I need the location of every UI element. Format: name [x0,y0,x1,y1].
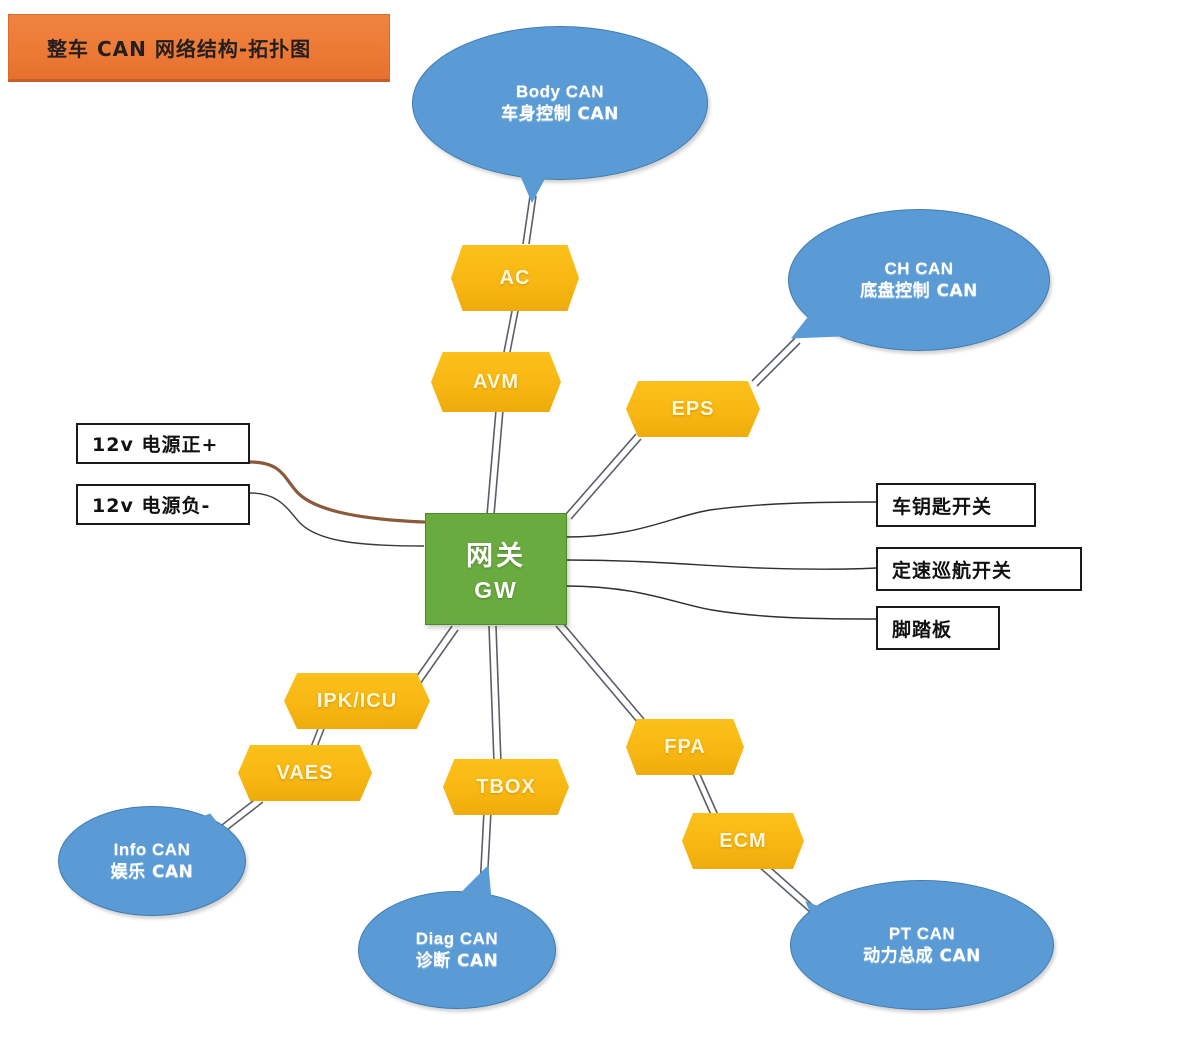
wire-gateway-to-fpa [556,622,644,723]
label-cruise-switch-text: 定速巡航开关 [892,556,1012,583]
wire-power-positive [250,462,424,522]
bubble-diag-can-tail [440,858,520,928]
label-power-positive: 12v 电源正+ [76,423,250,464]
ecu-node-avm[interactable]: AVM [431,352,561,412]
bubble-ch-can-cn: 底盘控制 CAN [860,280,978,302]
label-power-positive-text: 12v 电源正+ [92,430,218,457]
ecu-node-ac-label: AC [500,267,531,290]
ecu-node-fpa-label: FPA [664,736,706,759]
wire-gateway-to-cruise-switch [566,560,876,569]
wire-fpa-to-ecm [692,770,718,817]
gateway-label-en: GW [474,577,518,604]
wire-gateway-to-tbox [489,626,501,763]
ecu-node-eps-label: EPS [671,398,714,421]
bubble-info-can-tail [176,798,256,868]
label-power-negative-text: 12v 电源负- [92,491,210,518]
ecu-node-vaes-label: VAES [277,762,334,785]
gateway-node[interactable]: 网关 GW [425,513,567,625]
label-pedal: 脚踏板 [876,606,1000,650]
wire-gateway-to-key-switch [566,502,876,537]
ecu-node-ipk-icu-label: IPK/ICU [317,690,397,713]
wire-avm-to-gateway [487,410,503,515]
bubble-pt-can-cn: 动力总成 CAN [863,945,981,967]
wire-eps-to-gateway [566,434,641,519]
wire-gateway-to-pedal [566,586,876,619]
bubble-body-can-cn: 车身控制 CAN [501,103,619,125]
label-pedal-text: 脚踏板 [892,615,952,642]
ecu-node-ecm-label: ECM [719,830,766,853]
bubble-ch-can-tail [770,280,870,360]
ecu-node-vaes[interactable]: VAES [238,745,372,801]
gateway-label-cn: 网关 [466,534,526,573]
label-power-negative: 12v 电源负- [76,484,250,525]
label-cruise-switch: 定速巡航开关 [876,547,1082,591]
ecu-node-eps[interactable]: EPS [626,381,760,437]
bubble-body-can-tail [470,140,590,220]
can-topology-diagram: .can{stroke:#5a5f6a;stroke-width:1.6;fil… [0,0,1200,1038]
bubble-ch-can-en: CH CAN [884,258,953,280]
label-key-switch-text: 车钥匙开关 [892,492,992,519]
bubble-pt-can-tail [780,888,860,958]
ecu-node-ecm[interactable]: ECM [682,813,804,869]
page-title: 整车 CAN 网络结构-拓扑图 [9,33,311,62]
label-key-switch: 车钥匙开关 [876,483,1036,527]
diagram-title-banner: 整车 CAN 网络结构-拓扑图 [8,14,390,82]
bubble-body-can-en: Body CAN [516,81,604,103]
ecu-node-ipk-icu[interactable]: IPK/ICU [284,673,430,729]
ecu-node-tbox[interactable]: TBOX [443,759,569,815]
ecu-node-fpa[interactable]: FPA [626,719,744,775]
bubble-pt-can-en: PT CAN [889,923,955,945]
ecu-node-ac[interactable]: AC [451,245,579,311]
ecu-node-avm-label: AVM [473,371,519,394]
bubble-diag-can-cn: 诊断 CAN [416,950,499,972]
bubble-diag-can-en: Diag CAN [416,928,498,950]
ecu-node-tbox-label: TBOX [476,776,536,799]
wire-ac-to-avm [504,311,518,352]
